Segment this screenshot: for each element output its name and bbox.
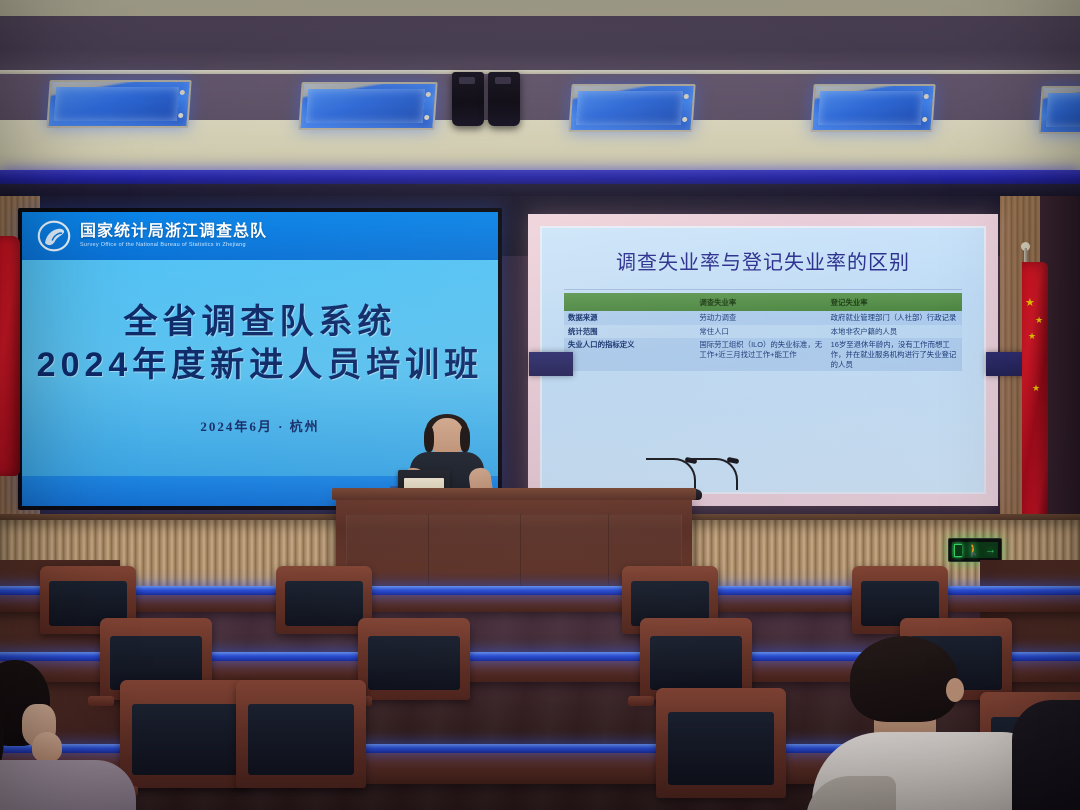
table-header: 调查失业率 登记失业率 bbox=[564, 293, 962, 311]
slide-date-location: 2024年6月 · 杭州 bbox=[200, 416, 319, 435]
light-knob-icon bbox=[424, 115, 429, 120]
table-row: 失业人口的指标定义 国际劳工组织（ILO）的失业标准，无工作+近三月找过工作+能… bbox=[564, 338, 962, 371]
podium-seam bbox=[428, 514, 429, 596]
light-knob-icon bbox=[922, 117, 927, 122]
light-glass bbox=[576, 91, 683, 125]
comparison-table: 调查失业率 登记失业率 数据来源 劳动力调查 政府就业管理部门（人社部）行政记录… bbox=[564, 293, 962, 371]
slide-right-content: 调查失业率与登记失业率的区别 调查失业率 登记失业率 数据来源 劳动力调查 政府… bbox=[540, 226, 986, 494]
flag-star-icon: ★ bbox=[1032, 384, 1040, 393]
audience-chair bbox=[236, 680, 366, 788]
light-glass bbox=[818, 91, 923, 125]
flag-star-icon: ★ bbox=[1028, 332, 1036, 341]
slide-right-title: 调查失业率与登记失业率的区别 bbox=[564, 246, 962, 275]
podium-seam bbox=[520, 514, 521, 596]
attendee-far-right bbox=[1012, 700, 1080, 810]
stage-light-block-left bbox=[529, 352, 573, 376]
exit-running-man-icon: 🚶 bbox=[966, 544, 981, 556]
attendee-hair bbox=[850, 636, 958, 722]
chair-cushion bbox=[132, 704, 239, 775]
attendee-torso bbox=[0, 760, 136, 810]
slide-left-org-block: 国家统计局浙江调查总队 Survey Office of the Nationa… bbox=[80, 224, 267, 249]
light-knob-icon bbox=[924, 94, 929, 99]
ceiling-light-panel-4 bbox=[810, 84, 935, 132]
chair-cushion bbox=[248, 704, 355, 775]
flag-left-partial bbox=[0, 236, 20, 476]
cell-registered-scope: 本地非农户籍的人员 bbox=[827, 325, 962, 339]
conference-hall-scene: 国家统计局浙江调查总队 Survey Office of the Nationa… bbox=[0, 0, 1080, 810]
flag-star-icon: ★ bbox=[1035, 316, 1043, 325]
ceiling-light-panel-2 bbox=[298, 82, 437, 130]
org-name-cn: 国家统计局浙江调查总队 bbox=[80, 224, 267, 241]
ceiling-light-panel-5 bbox=[1038, 86, 1080, 134]
presenter-hair-side bbox=[460, 426, 470, 452]
chair-cushion bbox=[285, 581, 364, 626]
table-header-registered-rate: 登记失业率 bbox=[827, 293, 962, 311]
cell-registered-definition: 16岁至退休年龄内，没有工作而想工作，并在就业服务机构进行了失业登记的人员 bbox=[827, 338, 962, 371]
light-knob-icon bbox=[180, 90, 185, 95]
ceiling-light-panel-3 bbox=[568, 84, 695, 132]
mic-neck bbox=[688, 458, 738, 490]
chinese-national-flag: ★ ★ ★ ★ bbox=[1008, 248, 1048, 548]
light-glass bbox=[306, 89, 425, 123]
podium-seam bbox=[608, 514, 609, 596]
light-glass bbox=[54, 87, 179, 121]
audience-chair bbox=[120, 680, 250, 788]
flag-star-icon: ★ bbox=[1025, 298, 1035, 309]
cell-surveyed-scope: 常住人口 bbox=[695, 325, 826, 339]
table-row: 统计范围 常住人口 本地非农户籍的人员 bbox=[564, 325, 962, 339]
light-knob-icon bbox=[178, 113, 183, 118]
table-row: 数据来源 劳动力调查 政府就业管理部门（人社部）行政记录 bbox=[564, 311, 962, 325]
attendee-hand bbox=[32, 732, 62, 762]
light-knob-icon bbox=[682, 117, 687, 122]
exit-sign-inner: 🚶 → bbox=[952, 542, 998, 558]
presenter-hair-side bbox=[424, 426, 434, 452]
row-label-data-source: 数据来源 bbox=[564, 311, 695, 325]
projector-unit-left-icon bbox=[452, 72, 484, 126]
projection-screen-right: 调查失业率与登记失业率的区别 调查失业率 登记失业率 数据来源 劳动力调查 政府… bbox=[528, 214, 998, 506]
table-header-surveyed-rate: 调查失业率 bbox=[695, 293, 826, 311]
attendee-ear bbox=[946, 678, 964, 702]
table-header-blank bbox=[564, 293, 695, 311]
exit-sign: 🚶 → bbox=[948, 538, 1002, 562]
audience-chair bbox=[656, 688, 786, 798]
podium-top-surface bbox=[332, 488, 696, 500]
light-knob-icon bbox=[426, 92, 431, 97]
cell-surveyed-data-source: 劳动力调查 bbox=[695, 311, 826, 325]
chair-cushion bbox=[650, 636, 742, 690]
exit-door-icon bbox=[954, 544, 962, 557]
row-label-definition: 失业人口的指标定义 bbox=[564, 338, 695, 371]
table-body: 数据来源 劳动力调查 政府就业管理部门（人社部）行政记录 统计范围 常住人口 本… bbox=[564, 311, 962, 371]
chair-cushion bbox=[368, 636, 460, 690]
attendee-front-left bbox=[0, 660, 120, 810]
org-name-en: Survey Office of the National Bureau of … bbox=[80, 242, 267, 248]
exit-arrow-icon: → bbox=[985, 544, 996, 556]
projector-unit-right-icon bbox=[488, 72, 520, 126]
cell-registered-data-source: 政府就业管理部门（人社部）行政记录 bbox=[827, 311, 962, 325]
audience-chair bbox=[358, 618, 470, 700]
chair-armrest bbox=[628, 696, 654, 706]
slide-left-header: 国家统计局浙江调查总队 Survey Office of the Nationa… bbox=[22, 212, 498, 260]
slide-title-line1: 全省调查队系统 bbox=[124, 301, 397, 344]
chair-cushion bbox=[668, 712, 775, 785]
table-header-row: 调查失业率 登记失业率 bbox=[564, 293, 962, 311]
slide-title-line2: 2024年度新进人员培训班 bbox=[37, 344, 484, 387]
light-glass bbox=[1046, 93, 1080, 127]
flag-cloth: ★ ★ ★ ★ bbox=[1022, 262, 1048, 534]
swirl-leaf-logo-icon bbox=[36, 219, 72, 253]
row-label-scope: 统计范围 bbox=[564, 325, 695, 339]
slide-divider bbox=[564, 289, 962, 290]
ceiling-light-panel-1 bbox=[46, 80, 191, 128]
ceiling-dark-band bbox=[0, 16, 1080, 72]
cell-surveyed-definition: 国际劳工组织（ILO）的失业标准，无工作+近三月找过工作+能工作 bbox=[695, 338, 826, 371]
light-knob-icon bbox=[684, 94, 689, 99]
